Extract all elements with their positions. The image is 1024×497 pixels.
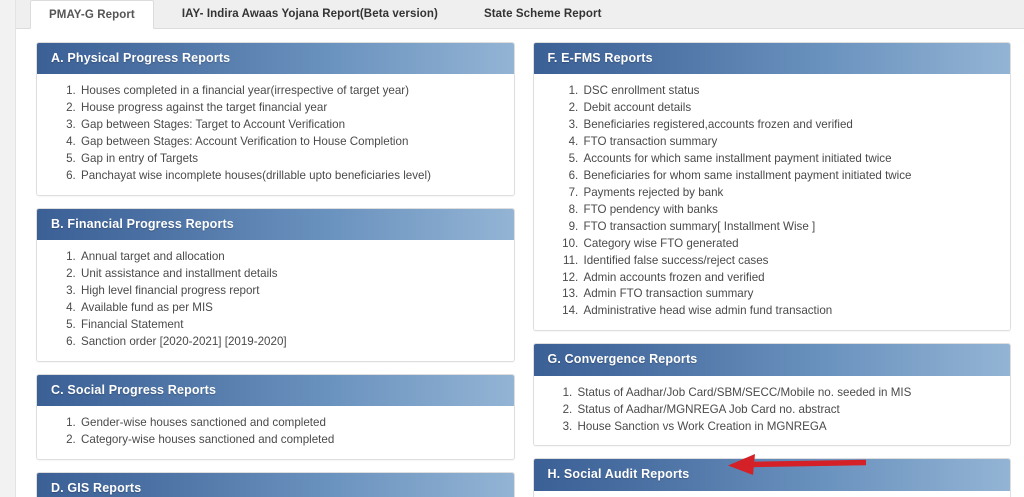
- list-item[interactable]: Beneficiaries for whom same installment …: [582, 168, 997, 185]
- list-item[interactable]: Identified false success/reject cases: [582, 253, 997, 270]
- panel-title: F. E-FMS Reports: [534, 43, 1011, 74]
- list-item[interactable]: Debit account details: [582, 100, 997, 117]
- tab-state-scheme-report[interactable]: State Scheme Report: [466, 0, 620, 28]
- list-item[interactable]: Administrative head wise admin fund tran…: [582, 303, 997, 320]
- list-item[interactable]: Panchayat wise incomplete houses(drillab…: [79, 168, 500, 185]
- list-item[interactable]: Gap in entry of Targets: [79, 151, 500, 168]
- list-item[interactable]: Status of Aadhar/MGNREGA Job Card no. ab…: [576, 402, 997, 419]
- tab-pmay-g-report[interactable]: PMAY-G Report: [30, 0, 154, 29]
- list-item[interactable]: House Sanction vs Work Creation in MGNRE…: [576, 419, 997, 436]
- list-item[interactable]: Sanction order [2020-2021] [2019-2020]: [79, 334, 500, 351]
- panel-financial-progress-reports: B. Financial Progress Reports Annual tar…: [36, 208, 515, 362]
- panel-title: A. Physical Progress Reports: [37, 43, 514, 74]
- reports-right-column: F. E-FMS Reports DSC enrollment status D…: [533, 42, 1012, 497]
- list-item[interactable]: Unit assistance and installment details: [79, 266, 500, 283]
- panel-body: DSC enrollment status Debit account deta…: [534, 74, 1011, 330]
- report-list: Gender-wise houses sanctioned and comple…: [51, 415, 500, 449]
- list-item[interactable]: Admin accounts frozen and verified: [582, 270, 997, 287]
- list-item[interactable]: Gap between Stages: Account Verification…: [79, 134, 500, 151]
- list-item[interactable]: Financial Statement: [79, 317, 500, 334]
- list-item[interactable]: FTO pendency with banks: [582, 202, 997, 219]
- panel-gis-reports: D. GIS Reports Scheme wise and inspectio…: [36, 472, 515, 497]
- report-list: DSC enrollment status Debit account deta…: [548, 83, 997, 320]
- panel-physical-progress-reports: A. Physical Progress Reports Houses comp…: [36, 42, 515, 196]
- tab-label: PMAY-G Report: [49, 9, 135, 21]
- tab-label: IAY- Indira Awaas Yojana Report(Beta ver…: [182, 8, 438, 20]
- panel-title: H. Social Audit Reports: [534, 459, 1011, 490]
- list-item[interactable]: High level financial progress report: [79, 283, 500, 300]
- list-item[interactable]: Annual target and allocation: [79, 249, 500, 266]
- report-list: Status of Aadhar/Job Card/SBM/SECC/Mobil…: [548, 385, 997, 436]
- list-item[interactable]: Accounts for which same installment paym…: [582, 151, 997, 168]
- panel-e-fms-reports: F. E-FMS Reports DSC enrollment status D…: [533, 42, 1012, 331]
- panel-social-audit-reports: H. Social Audit Reports Beneficiary deta…: [533, 458, 1012, 497]
- report-list: Annual target and allocation Unit assist…: [51, 249, 500, 351]
- tab-label: State Scheme Report: [484, 8, 602, 20]
- panel-convergence-reports: G. Convergence Reports Status of Aadhar/…: [533, 343, 1012, 446]
- reports-left-column: A. Physical Progress Reports Houses comp…: [36, 42, 515, 497]
- reports-columns: A. Physical Progress Reports Houses comp…: [17, 29, 1024, 497]
- list-item[interactable]: DSC enrollment status: [582, 83, 997, 100]
- list-item[interactable]: Available fund as per MIS: [79, 300, 500, 317]
- page-root: PMAY-G Report IAY- Indira Awaas Yojana R…: [0, 0, 1024, 497]
- panel-title: C. Social Progress Reports: [37, 375, 514, 406]
- list-item[interactable]: Beneficiaries registered,accounts frozen…: [582, 117, 997, 134]
- list-item[interactable]: FTO transaction summary[ Installment Wis…: [582, 219, 997, 236]
- list-item[interactable]: Houses completed in a financial year(irr…: [79, 83, 500, 100]
- list-item[interactable]: Gender-wise houses sanctioned and comple…: [79, 415, 500, 432]
- reports-content: A. Physical Progress Reports Houses comp…: [17, 29, 1024, 497]
- panel-body: Status of Aadhar/Job Card/SBM/SECC/Mobil…: [534, 376, 1011, 446]
- list-item[interactable]: Payments rejected by bank: [582, 185, 997, 202]
- panel-body: Houses completed in a financial year(irr…: [37, 74, 514, 195]
- list-item[interactable]: Admin FTO transaction summary: [582, 286, 997, 303]
- panel-title: G. Convergence Reports: [534, 344, 1011, 375]
- panel-title: B. Financial Progress Reports: [37, 209, 514, 240]
- list-item[interactable]: Category-wise houses sanctioned and comp…: [79, 432, 500, 449]
- list-item[interactable]: Status of Aadhar/Job Card/SBM/SECC/Mobil…: [576, 385, 997, 402]
- tab-iay-indira-awaas-yojana-report[interactable]: IAY- Indira Awaas Yojana Report(Beta ver…: [164, 0, 456, 28]
- list-item[interactable]: Category wise FTO generated: [582, 236, 997, 253]
- list-item[interactable]: FTO transaction summary: [582, 134, 997, 151]
- panel-body: Beneficiary details for verification: [534, 491, 1011, 497]
- panel-social-progress-reports: C. Social Progress Reports Gender-wise h…: [36, 374, 515, 460]
- panel-body: Annual target and allocation Unit assist…: [37, 240, 514, 361]
- panel-title: D. GIS Reports: [37, 473, 514, 497]
- report-list: Houses completed in a financial year(irr…: [51, 83, 500, 185]
- panel-body: Gender-wise houses sanctioned and comple…: [37, 406, 514, 459]
- page-left-gutter: [0, 0, 16, 497]
- report-tab-bar: PMAY-G Report IAY- Indira Awaas Yojana R…: [16, 0, 1024, 29]
- list-item[interactable]: Gap between Stages: Target to Account Ve…: [79, 117, 500, 134]
- list-item[interactable]: House progress against the target financ…: [79, 100, 500, 117]
